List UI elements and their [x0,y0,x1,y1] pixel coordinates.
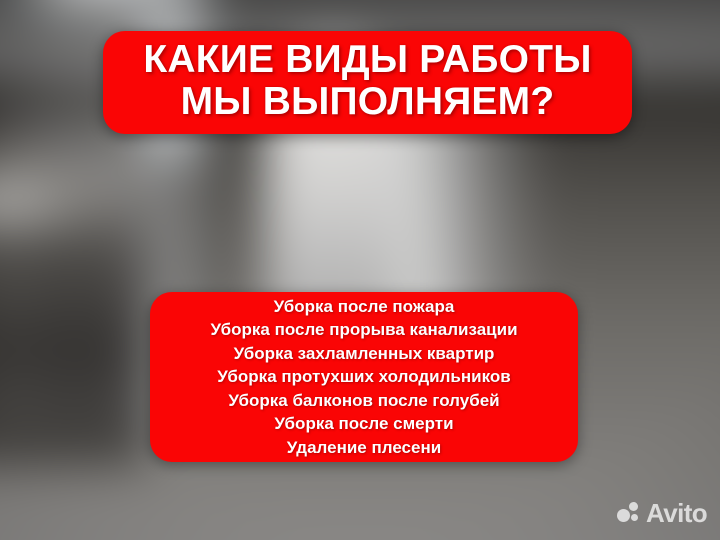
avito-dots-icon [617,502,641,524]
service-item-3: Уборка захламленных квартир [234,342,495,366]
service-item-2: Уборка после прорыва канализации [210,318,517,342]
service-item-4: Уборка протухших холодильников [217,365,510,389]
headline-callout-box: КАКИЕ ВИДЫ РАБОТЫ МЫ ВЫПОЛНЯЕМ? [103,31,632,134]
banner-canvas: КАКИЕ ВИДЫ РАБОТЫ МЫ ВЫПОЛНЯЕМ? Уборка п… [0,0,720,540]
service-item-5: Уборка балконов после голубей [228,389,499,413]
avito-wordmark: Avito [646,500,707,526]
headline-line-1: КАКИЕ ВИДЫ РАБОТЫ [143,39,591,80]
service-item-6: Уборка после смерти [274,412,453,436]
headline-line-2: МЫ ВЫПОЛНЯЕМ? [181,81,555,122]
service-item-1: Уборка после пожара [274,295,455,319]
avito-dot-small [631,514,638,521]
avito-watermark: Avito [617,500,707,526]
services-callout-box: Уборка после пожара Уборка после прорыва… [150,292,578,462]
avito-dot-medium [629,502,638,511]
avito-dot-large [617,509,630,522]
service-item-7: Удаление плесени [287,436,441,460]
